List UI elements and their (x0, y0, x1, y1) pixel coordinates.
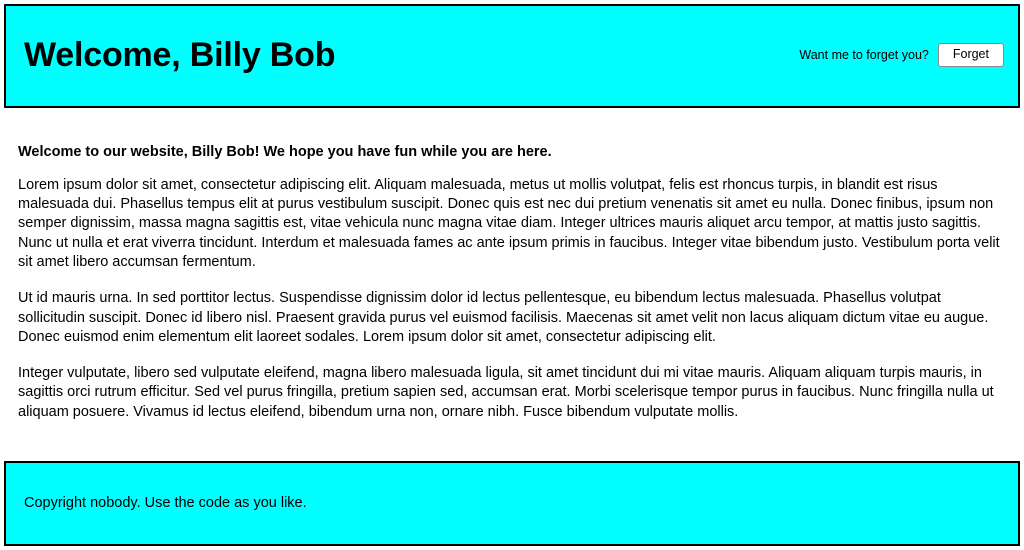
copyright-text: Copyright nobody. Use the code as you li… (24, 494, 307, 513)
site-footer: Copyright nobody. Use the code as you li… (4, 461, 1020, 546)
body-paragraph: Ut id mauris urna. In sed porttitor lect… (18, 289, 1004, 347)
main-content: Welcome to our website, Billy Bob! We ho… (18, 143, 1004, 422)
forget-me-group: Want me to forget you? Forget (799, 43, 1004, 69)
body-paragraph: Integer vulputate, libero sed vulputate … (18, 364, 1004, 422)
page-title: Welcome, Billy Bob (24, 37, 335, 74)
body-paragraph: Lorem ipsum dolor sit amet, consectetur … (18, 176, 1004, 272)
intro-message: Welcome to our website, Billy Bob! We ho… (18, 143, 1004, 162)
page-root: Welcome, Billy Bob Want me to forget you… (0, 0, 1024, 550)
site-header: Welcome, Billy Bob Want me to forget you… (4, 4, 1020, 108)
forget-button[interactable]: Forget (938, 43, 1004, 67)
forget-prompt-label: Want me to forget you? (799, 48, 928, 63)
